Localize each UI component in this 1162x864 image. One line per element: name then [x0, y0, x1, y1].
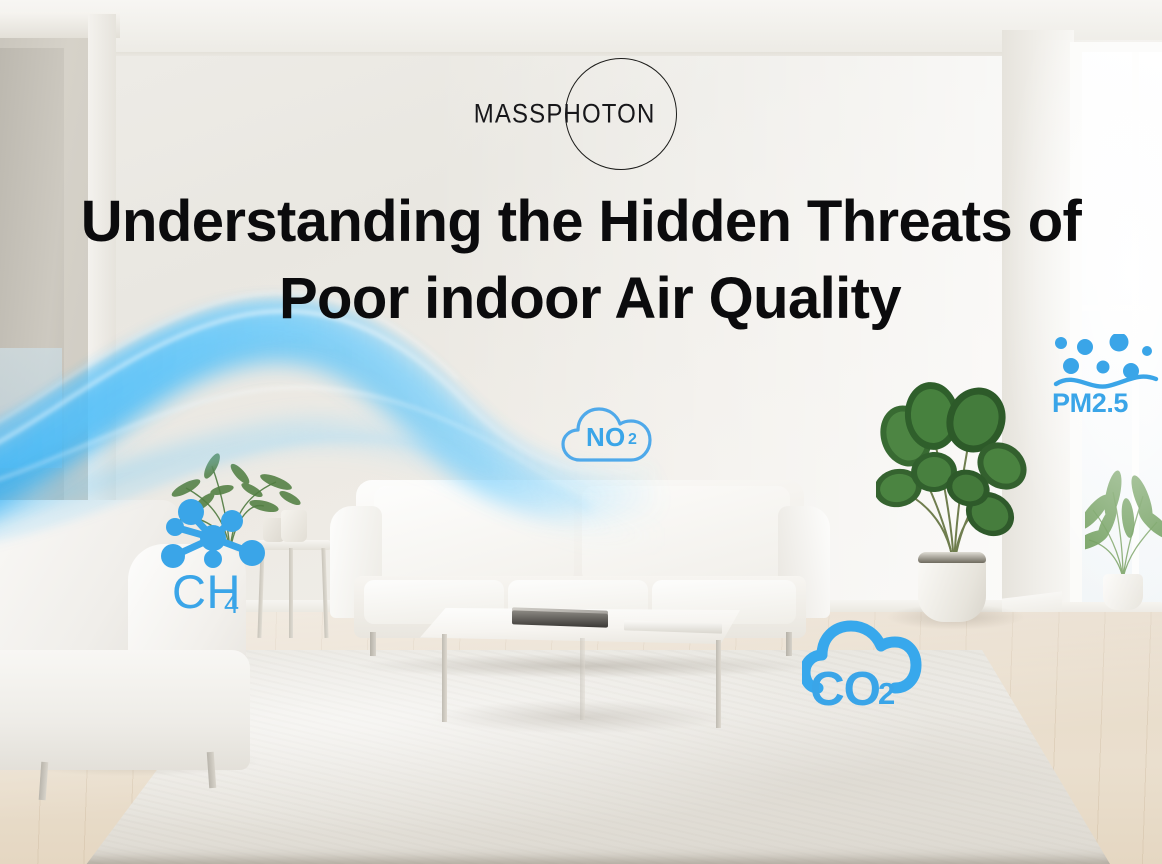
pollutant-badge-ch4: CH 4: [158, 498, 268, 626]
pollutant-badge-pm25: PM2.5: [1050, 334, 1162, 430]
methane-molecule-icon: [158, 498, 268, 568]
ceramic-pot-large: [281, 510, 307, 542]
particulate-dots-wave-icon: [1050, 334, 1162, 390]
sofa-back-cushion: [582, 486, 790, 584]
poster-canvas: MASSPHOTON Understanding the Hidden Thre…: [0, 0, 1162, 864]
sofa-leg: [370, 632, 376, 656]
pollutant-subscript-no2: 2: [628, 431, 637, 449]
side-table-leg: [321, 548, 328, 638]
page-title-line-2: Poor indoor Air Quality: [0, 261, 1162, 338]
pollutant-badge-no2: NO 2: [560, 404, 660, 466]
palm-pot: [1103, 574, 1143, 610]
pollutant-subscript-ch4: 4: [224, 589, 239, 620]
pollutant-label-co2: CO: [810, 662, 880, 717]
rubber-plant: [876, 370, 1036, 626]
sofa-back-cushion: [374, 486, 574, 584]
coffee-table: [420, 608, 740, 726]
page-title: Understanding the Hidden Threats of Poor…: [0, 184, 1162, 337]
pollutant-label-no2: NO: [586, 422, 625, 453]
windowsill-palm: [1085, 470, 1162, 610]
ceiling: [0, 0, 1162, 58]
coffee-table-leg: [580, 638, 585, 720]
coffee-table-leg: [442, 634, 447, 722]
plant-pot-soil: [918, 552, 986, 563]
pollutant-label-pm25: PM2.5: [1052, 388, 1128, 419]
pollutant-subscript-co2: 2: [878, 676, 895, 712]
pollutant-badge-co2: CO 2: [802, 618, 922, 718]
brand-logo[interactable]: MASSPHOTON: [470, 58, 685, 170]
brand-logo-text: MASSPHOTON: [474, 99, 652, 130]
sofa-leg: [786, 632, 792, 656]
side-table-leg: [289, 548, 293, 638]
doorway-glass-reflection: [0, 348, 62, 468]
page-title-line-1: Understanding the Hidden Threats of: [0, 184, 1162, 261]
coffee-table-leg: [716, 640, 721, 728]
